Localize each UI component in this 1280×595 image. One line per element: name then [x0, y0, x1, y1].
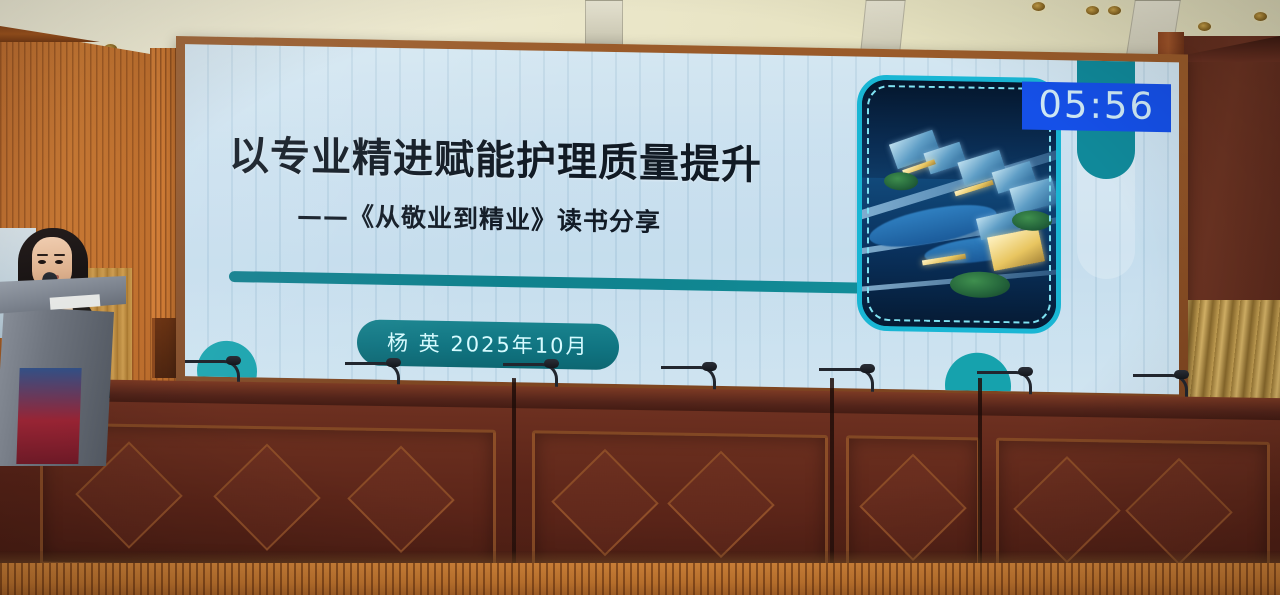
- photo-greenery-3: [1012, 210, 1052, 231]
- desk-diamond: [859, 454, 966, 561]
- ceiling-spotlight-7: [1198, 22, 1211, 31]
- podium-papers: [50, 294, 101, 309]
- desk-seam-2: [830, 378, 834, 568]
- microphone-head: [226, 356, 241, 365]
- desk-diamond: [1125, 458, 1232, 565]
- photo-greenery-1: [884, 172, 918, 191]
- slide-subtitle: ——《从敬业到精业》读书分享: [297, 196, 917, 243]
- ceiling-spotlight-6: [1254, 12, 1267, 21]
- desk-diamond: [213, 443, 320, 550]
- speaker-brow-right: [54, 254, 65, 256]
- desk-base-shadow: [0, 551, 1280, 563]
- speaker-brow-left: [37, 254, 48, 256]
- desk-diamond: [347, 446, 454, 553]
- desk-diamond: [1013, 456, 1120, 563]
- presentation-slide: 以专业精进赋能护理质量提升 ——《从敬业到精业》读书分享 杨 英 2025年10…: [185, 44, 1179, 394]
- microphone-head: [544, 359, 559, 368]
- microphone-head: [702, 362, 717, 371]
- projection-screen-frame: 以专业精进赋能护理质量提升 ——《从敬业到精业》读书分享 杨 英 2025年10…: [176, 36, 1188, 400]
- ceiling-spotlight-2: [1032, 2, 1045, 11]
- ceiling-spotlight-3: [1108, 6, 1121, 15]
- microphone-head: [1018, 367, 1033, 376]
- desk-diamond: [551, 449, 658, 556]
- desk-seam-3: [978, 378, 982, 568]
- microphone-head: [860, 364, 875, 373]
- desk-diamond: [667, 451, 774, 558]
- podium: [0, 276, 126, 466]
- ceiling-spotlight-5: [1086, 6, 1099, 15]
- conference-desk: [0, 370, 1280, 595]
- slide-title: 以专业精进赋能护理质量提升: [229, 123, 889, 193]
- countdown-timer: 05:56: [1022, 82, 1171, 133]
- microphone-head: [386, 358, 401, 367]
- podium-stripe: [16, 368, 81, 464]
- desk-base-slats: [0, 563, 1280, 595]
- speaker-eye-left: [38, 260, 46, 264]
- speaker-eye-right: [55, 260, 63, 264]
- microphone-head: [1174, 370, 1189, 379]
- conference-hall-photo: 以专业精进赋能护理质量提升 ——《从敬业到精业》读书分享 杨 英 2025年10…: [0, 0, 1280, 595]
- slide-divider-bar: [229, 271, 941, 295]
- desk-seam-1: [512, 378, 516, 568]
